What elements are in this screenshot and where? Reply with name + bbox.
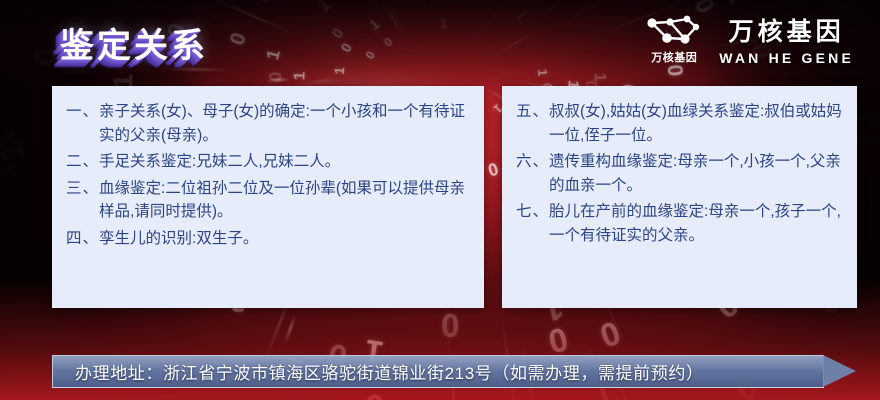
list-item-number: 五、 [516,100,549,124]
slide-canvas: 1101010100111000011101010101101100000011… [0,0,880,400]
content-panel-right: 五、 叔叔(女),姑姑(女)血绿关系鉴定:叔伯或姑妈一位,侄子一位。 六、 遗传… [502,86,857,308]
list-item-text: 胎儿在产前的血缘鉴定:母亲一个,孩子一个,一个有待证实的父亲。 [549,200,845,247]
molecule-node-icon [643,13,705,47]
list-item: 二、 手足关系鉴定:兄妹二人,兄妹二人。 [66,150,472,174]
list-item-text: 遗传重构血缘鉴定:母亲一个,小孩一个,父亲的血亲一个。 [549,150,845,197]
footer-arrow-icon [823,355,856,387]
list-item-text: 亲子关系(女)、母子(女)的确定:一个小孩和一个有待证实的父亲(母亲)。 [99,100,472,147]
list-item-text: 血缘鉴定:二位祖孙二位及一位孙辈(如果可以提供母亲样品,请同时提供)。 [99,177,472,224]
logo-wordmark: 万核基因 WAN HE GENE [719,12,854,66]
content-panel-left: 一、 亲子关系(女)、母子(女)的确定:一个小孩和一个有待证实的父亲(母亲)。 … [52,86,484,308]
list-item-text: 手足关系鉴定:兄妹二人,兄妹二人。 [99,150,472,174]
list-item: 五、 叔叔(女),姑姑(女)血绿关系鉴定:叔伯或姑妈一位,侄子一位。 [516,100,845,147]
list-item-number: 二、 [66,150,99,174]
logo-brand-en: WAN HE GENE [719,50,854,66]
list-item-number: 六、 [516,150,549,174]
brand-logo: 万核基因 万核基因 WAN HE GENE [643,12,854,66]
footer-address-banner: 办理地址：浙江省宁波市镇海区骆驼街道锦业街213号（如需办理，需提前预约） [52,355,857,388]
footer-address-bar: 办理地址：浙江省宁波市镇海区骆驼街道锦业街213号（如需办理，需提前预约） [52,355,824,388]
logo-mark: 万核基因 [643,13,705,65]
list-item: 三、 血缘鉴定:二位祖孙二位及一位孙辈(如果可以提供母亲样品,请同时提供)。 [66,177,472,224]
list-item-number: 一、 [66,100,99,124]
logo-brand-cn: 万核基因 [729,12,845,48]
list-item-text: 孪生儿的识别:双生子。 [99,227,472,251]
footer-address-text: 办理地址：浙江省宁波市镇海区骆驼街道锦业街213号（如需办理，需提前预约） [75,359,704,384]
list-item: 七、 胎儿在产前的血缘鉴定:母亲一个,孩子一个,一个有待证实的父亲。 [516,200,845,247]
list-item-text: 叔叔(女),姑姑(女)血绿关系鉴定:叔伯或姑妈一位,侄子一位。 [549,100,845,147]
page-title: 鉴定关系 [60,18,208,67]
list-item-number: 七、 [516,200,549,224]
list-item-number: 三、 [66,177,99,201]
list-item: 一、 亲子关系(女)、母子(女)的确定:一个小孩和一个有待证实的父亲(母亲)。 [66,100,472,147]
list-item-number: 四、 [66,227,99,251]
logo-mark-caption: 万核基因 [651,49,697,65]
list-item: 四、 孪生儿的识别:双生子。 [66,227,472,251]
list-item: 六、 遗传重构血缘鉴定:母亲一个,小孩一个,父亲的血亲一个。 [516,150,845,197]
